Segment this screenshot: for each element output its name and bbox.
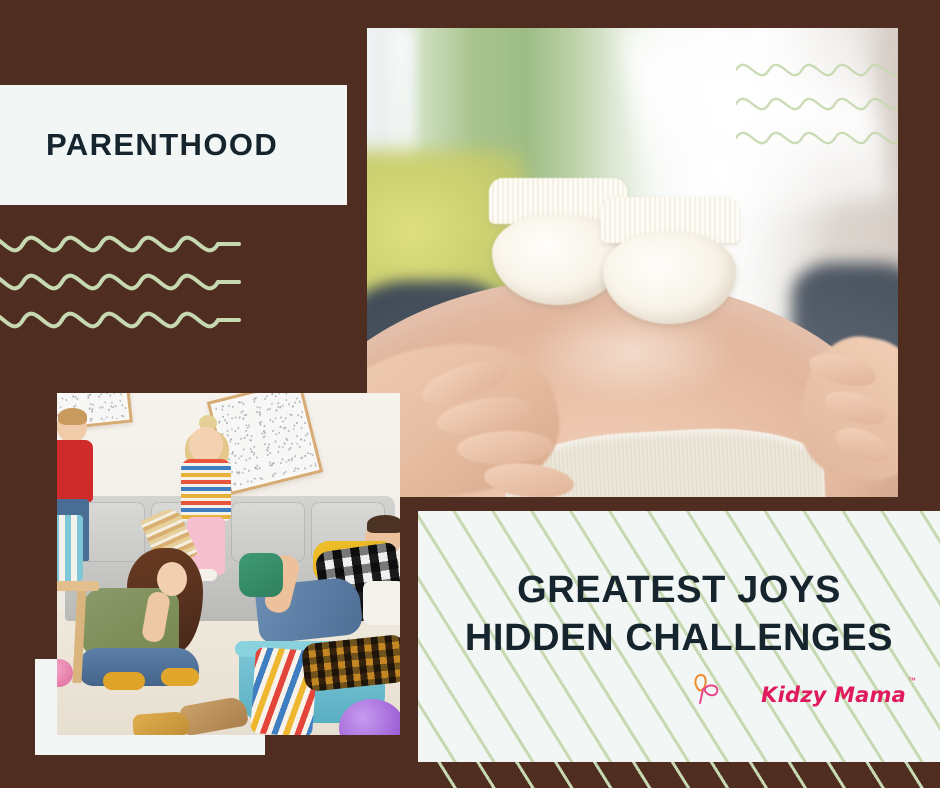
page-title-eyebrow: PARENTHOOD (0, 127, 278, 163)
eyebrow-card: PARENTHOOD (0, 85, 347, 205)
diagonal-stripes-continuation (418, 762, 940, 788)
brand-logo[interactable]: Kidzy Mama ™ (418, 672, 916, 718)
title-line-1: GREATEST JOYS (418, 567, 940, 615)
pregnancy-belly-photo (367, 28, 898, 497)
title-card: GREATEST JOYS HIDDEN CHALLENGES Kidzy Ma… (418, 511, 940, 762)
plaid-laundry (301, 634, 400, 693)
green-cushion (239, 553, 283, 597)
brand-name: Kidzy Mama (761, 683, 906, 707)
child-striped-dress (181, 459, 231, 521)
child-hair (58, 408, 87, 425)
table-top (57, 581, 99, 591)
bottom-bar (0, 762, 940, 788)
mother-boot (103, 672, 145, 690)
title-line-2: HIDDEN CHALLENGES (418, 615, 940, 663)
tired-family-photo (57, 393, 400, 735)
child-red-shirt (57, 440, 93, 502)
mother-sitting-on-floor (73, 548, 203, 688)
bootie-foot (603, 233, 736, 323)
butterfly-icon (609, 672, 759, 718)
father-white-tee (363, 581, 400, 625)
baby-bootie-right (601, 197, 739, 319)
poster-canvas: PARENTHOOD (0, 0, 940, 788)
mother-boot (161, 668, 199, 686)
father-hair (367, 515, 400, 533)
page-title: GREATEST JOYS HIDDEN CHALLENGES (418, 567, 940, 662)
window-frame (388, 28, 415, 169)
child-head (189, 427, 223, 463)
wavy-lines-left (0, 222, 254, 342)
mother-face (157, 562, 187, 596)
childrens-boot (132, 711, 190, 735)
trademark-symbol: ™ (908, 676, 916, 685)
striped-bag (57, 515, 83, 581)
